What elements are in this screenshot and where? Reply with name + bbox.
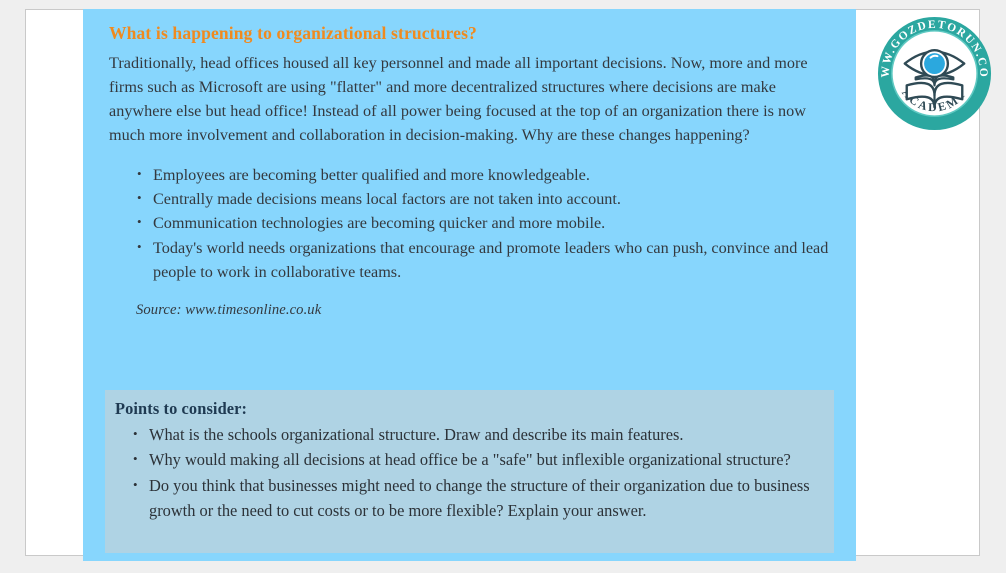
list-item: Do you think that businesses might need … — [133, 473, 822, 524]
source-attribution: Source: www.timesonline.co.uk — [109, 302, 834, 319]
list-item: Communication technologies are becoming … — [137, 211, 834, 235]
list-item: What is the schools organizational struc… — [133, 422, 822, 447]
article-heading: What is happening to organizational stru… — [109, 23, 834, 45]
article-bullet-list: Employees are becoming better qualified … — [109, 163, 834, 284]
list-item: Employees are becoming better qualified … — [137, 163, 834, 187]
points-to-consider-box: Points to consider: What is the schools … — [105, 390, 834, 553]
list-item: Centrally made decisions means local fac… — [137, 187, 834, 211]
slide-card: What is happening to organizational stru… — [25, 9, 980, 556]
slide-viewer: What is happening to organizational stru… — [0, 0, 1006, 573]
list-item: Why would making all decisions at head o… — [133, 447, 822, 472]
points-to-consider-list: What is the schools organizational struc… — [115, 422, 822, 523]
content-panel: What is happening to organizational stru… — [83, 9, 856, 561]
academy-logo: WWW.GOZDETORUN.COM ACADEMY — [875, 14, 994, 133]
points-to-consider-title: Points to consider: — [115, 399, 822, 419]
list-item: Today's world needs organizations that e… — [137, 236, 834, 285]
article-body-paragraph: Traditionally, head offices housed all k… — [109, 51, 834, 148]
